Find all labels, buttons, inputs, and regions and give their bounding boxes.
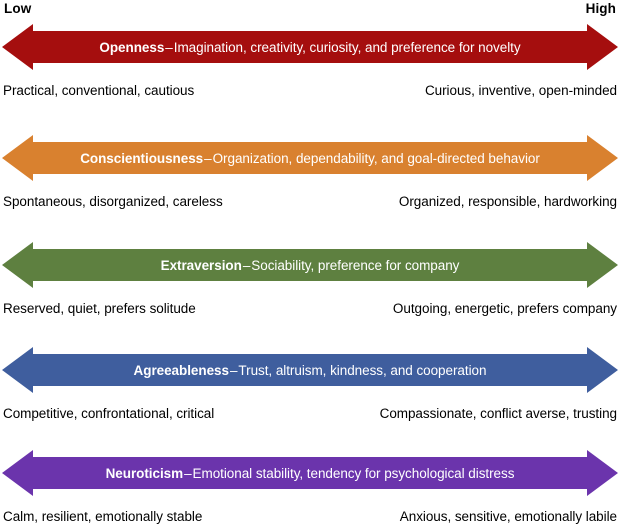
trait-high-pole-conscientiousness: Organized, responsible, hardworking	[399, 193, 617, 211]
trait-low-pole-conscientiousness: Spontaneous, disorganized, careless	[3, 193, 223, 211]
trait-high-pole-agreeableness: Compassionate, conflict averse, trusting	[380, 405, 617, 423]
trait-arrow-label-conscientiousness: Conscientiousness – Organization, depend…	[33, 133, 587, 183]
trait-name-agreeableness: Agreeableness	[134, 362, 229, 379]
trait-dash: –	[229, 362, 238, 379]
trait-arrow-agreeableness: Agreeableness – Trust, altruism, kindnes…	[0, 345, 620, 395]
trait-arrow-neuroticism: Neuroticism – Emotional stability, tende…	[0, 448, 620, 498]
trait-row-neuroticism: Neuroticism – Emotional stability, tende…	[0, 448, 620, 528]
trait-arrow-label-extraversion: Extraversion – Sociability, preference f…	[33, 240, 587, 290]
trait-row-openness: Openness – Imagination, creativity, curi…	[0, 22, 620, 102]
trait-arrow-label-neuroticism: Neuroticism – Emotional stability, tende…	[33, 448, 587, 498]
trait-low-pole-openness: Practical, conventional, cautious	[3, 82, 194, 100]
trait-name-conscientiousness: Conscientiousness	[80, 150, 203, 167]
trait-low-pole-agreeableness: Competitive, confrontational, critical	[3, 405, 214, 423]
trait-row-conscientiousness: Conscientiousness – Organization, depend…	[0, 133, 620, 213]
trait-arrow-openness: Openness – Imagination, creativity, curi…	[0, 22, 620, 72]
trait-arrow-label-agreeableness: Agreeableness – Trust, altruism, kindnes…	[33, 345, 587, 395]
trait-dash: –	[242, 257, 251, 274]
trait-poles-agreeableness: Competitive, confrontational, criticalCo…	[0, 405, 620, 425]
trait-name-openness: Openness	[99, 39, 164, 56]
trait-low-pole-neuroticism: Calm, resilient, emotionally stable	[3, 508, 202, 526]
trait-arrow-extraversion: Extraversion – Sociability, preference f…	[0, 240, 620, 290]
trait-name-extraversion: Extraversion	[161, 257, 242, 274]
trait-description-extraversion: Sociability, preference for company	[251, 257, 459, 274]
trait-poles-neuroticism: Calm, resilient, emotionally stableAnxio…	[0, 508, 620, 528]
trait-description-openness: Imagination, creativity, curiosity, and …	[174, 39, 521, 56]
big-five-traits-figure: Low High Openness – Imagination, creativ…	[0, 0, 620, 531]
trait-arrow-conscientiousness: Conscientiousness – Organization, depend…	[0, 133, 620, 183]
axis-label-low: Low	[4, 1, 31, 17]
trait-description-agreeableness: Trust, altruism, kindness, and cooperati…	[238, 362, 486, 379]
trait-description-conscientiousness: Organization, dependability, and goal-di…	[213, 150, 540, 167]
axis-label-high: High	[586, 1, 616, 17]
trait-arrow-label-openness: Openness – Imagination, creativity, curi…	[33, 22, 587, 72]
trait-high-pole-openness: Curious, inventive, open-minded	[425, 82, 617, 100]
trait-dash: –	[164, 39, 173, 56]
axis-labels: Low High	[0, 0, 620, 20]
trait-high-pole-neuroticism: Anxious, sensitive, emotionally labile	[400, 508, 617, 526]
trait-high-pole-extraversion: Outgoing, energetic, prefers company	[393, 300, 617, 318]
trait-poles-extraversion: Reserved, quiet, prefers solitudeOutgoin…	[0, 300, 620, 320]
trait-row-agreeableness: Agreeableness – Trust, altruism, kindnes…	[0, 345, 620, 425]
trait-poles-openness: Practical, conventional, cautiousCurious…	[0, 82, 620, 102]
trait-description-neuroticism: Emotional stability, tendency for psycho…	[193, 465, 515, 482]
trait-dash: –	[183, 465, 192, 482]
trait-poles-conscientiousness: Spontaneous, disorganized, carelessOrgan…	[0, 193, 620, 213]
trait-row-extraversion: Extraversion – Sociability, preference f…	[0, 240, 620, 320]
trait-dash: –	[203, 150, 212, 167]
trait-low-pole-extraversion: Reserved, quiet, prefers solitude	[3, 300, 196, 318]
trait-name-neuroticism: Neuroticism	[106, 465, 183, 482]
